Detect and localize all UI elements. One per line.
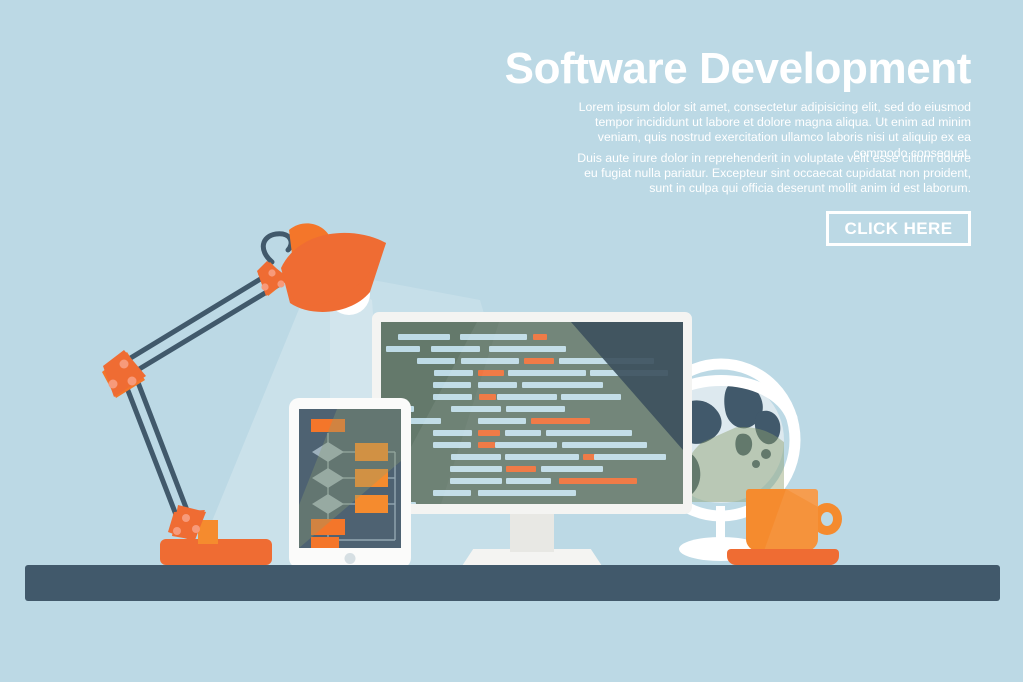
code-line-segment (434, 370, 473, 376)
code-line-segment (541, 466, 603, 472)
click-here-button[interactable]: CLICK HERE (826, 211, 971, 246)
tablet-screen (299, 409, 401, 548)
code-line-segment (460, 334, 527, 340)
code-line-segment (489, 346, 566, 352)
desktop-monitor (372, 312, 692, 514)
code-line-segment (417, 358, 455, 364)
code-line-segment (508, 370, 586, 376)
code-line-segment (433, 430, 472, 436)
code-line-segment (562, 442, 647, 448)
code-line-segment (478, 442, 495, 448)
code-line-segment (546, 430, 632, 436)
code-line-segment (524, 358, 554, 364)
coffee-cup (746, 489, 818, 551)
code-line-segment (433, 490, 471, 496)
cup-saucer (727, 549, 839, 565)
code-line-segment (531, 418, 590, 424)
monitor-screen (381, 322, 683, 504)
page-title: Software Development (505, 44, 971, 94)
code-line-segment (590, 370, 668, 376)
code-line-segment (505, 430, 541, 436)
code-line-segment (433, 442, 471, 448)
code-line-segment (478, 382, 517, 388)
code-line-segment (461, 358, 519, 364)
tablet-device (289, 398, 411, 568)
code-line-segment (497, 394, 557, 400)
code-line-segment (506, 466, 536, 472)
code-line-segment (559, 358, 654, 364)
code-line-segment (479, 394, 496, 400)
illustration-canvas: Software Development Lorem ipsum dolor s… (0, 0, 1023, 682)
code-line-segment (398, 334, 450, 340)
code-line-segment (561, 394, 621, 400)
code-line-segment (450, 466, 502, 472)
code-line-segment (433, 382, 471, 388)
code-line-segment (478, 430, 500, 436)
desk-surface (25, 565, 1000, 601)
hero-paragraph-2: Duis aute irure dolor in reprehenderit i… (561, 151, 971, 197)
code-line-segment (451, 406, 501, 412)
code-line-segment (478, 490, 576, 496)
code-line-segment (478, 418, 526, 424)
flowchart-diagram (299, 409, 401, 548)
monitor-neck (510, 514, 554, 552)
code-line-segment (451, 454, 501, 460)
code-line-segment (386, 346, 420, 352)
code-line-segment (433, 394, 472, 400)
code-line-segment (594, 454, 666, 460)
code-line-segment (559, 478, 637, 484)
code-line-segment (533, 334, 547, 340)
code-line-segment (431, 346, 480, 352)
code-line-segment (450, 478, 502, 484)
tablet-home-button[interactable] (345, 553, 356, 564)
code-line-segment (478, 370, 504, 376)
code-line-segment (506, 406, 565, 412)
code-line-segment (495, 442, 557, 448)
code-line-segment (505, 454, 579, 460)
code-line-segment (522, 382, 603, 388)
code-line-segment (506, 478, 551, 484)
